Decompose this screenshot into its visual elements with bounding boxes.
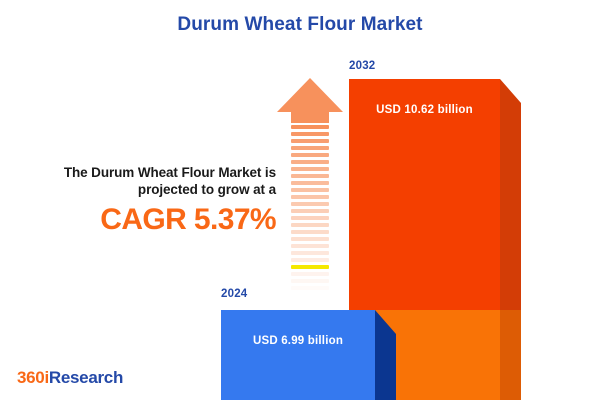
arrow-head-icon (277, 78, 343, 112)
infographic-canvas: Durum Wheat Flour Market The Durum Wheat… (0, 0, 600, 400)
bar-label-2032: 2032 (349, 60, 375, 72)
arrow-stripe (291, 160, 329, 164)
arrow-neck (291, 112, 329, 123)
arrow-stripe (291, 286, 329, 290)
arrow-gradient-stripes (291, 125, 329, 297)
arrow-stripe (291, 202, 329, 206)
bar-2024-face (221, 310, 375, 400)
arrow-stripe (291, 209, 329, 213)
growth-arrow-icon (277, 78, 343, 298)
brand-logo-mark: 360i (17, 368, 49, 387)
bar-2032-side-upper (500, 79, 521, 310)
arrow-stripe (291, 146, 329, 150)
arrow-stripe (291, 223, 329, 227)
statement-block: The Durum Wheat Flour Market is projecte… (26, 164, 276, 237)
arrow-stripe (291, 279, 329, 283)
arrow-stripe (291, 244, 329, 248)
arrow-stripe (291, 251, 329, 255)
arrow-stripe (291, 237, 329, 241)
arrow-stripe (291, 139, 329, 143)
arrow-stripe (291, 153, 329, 157)
arrow-stripe (291, 167, 329, 171)
arrow-stripe (291, 125, 329, 129)
arrow-stripe (291, 174, 329, 178)
arrow-stripe (291, 195, 329, 199)
arrow-stripe (291, 272, 329, 276)
brand-logo[interactable]: 360iResearch (17, 368, 123, 388)
statement-lead-text: The Durum Wheat Flour Market is projecte… (26, 164, 276, 198)
bar-2032-side-lower (500, 310, 521, 400)
bar-value-2024: USD 6.99 billion (221, 335, 375, 347)
arrow-stripe (291, 216, 329, 220)
bar-value-2032: USD 10.62 billion (349, 104, 500, 116)
arrow-stripe (291, 258, 329, 262)
cagr-value: CAGR 5.37% (26, 203, 276, 237)
arrow-stripe (291, 132, 329, 136)
arrow-stripe (291, 293, 329, 297)
bar-label-2024: 2024 (221, 288, 247, 300)
brand-logo-text: Research (49, 368, 123, 387)
page-title: Durum Wheat Flour Market (0, 14, 600, 36)
bar-2024: USD 6.99 billion (221, 310, 375, 400)
arrow-stripe (291, 265, 329, 269)
arrow-stripe (291, 188, 329, 192)
arrow-stripe (291, 230, 329, 234)
arrow-stripe (291, 181, 329, 185)
